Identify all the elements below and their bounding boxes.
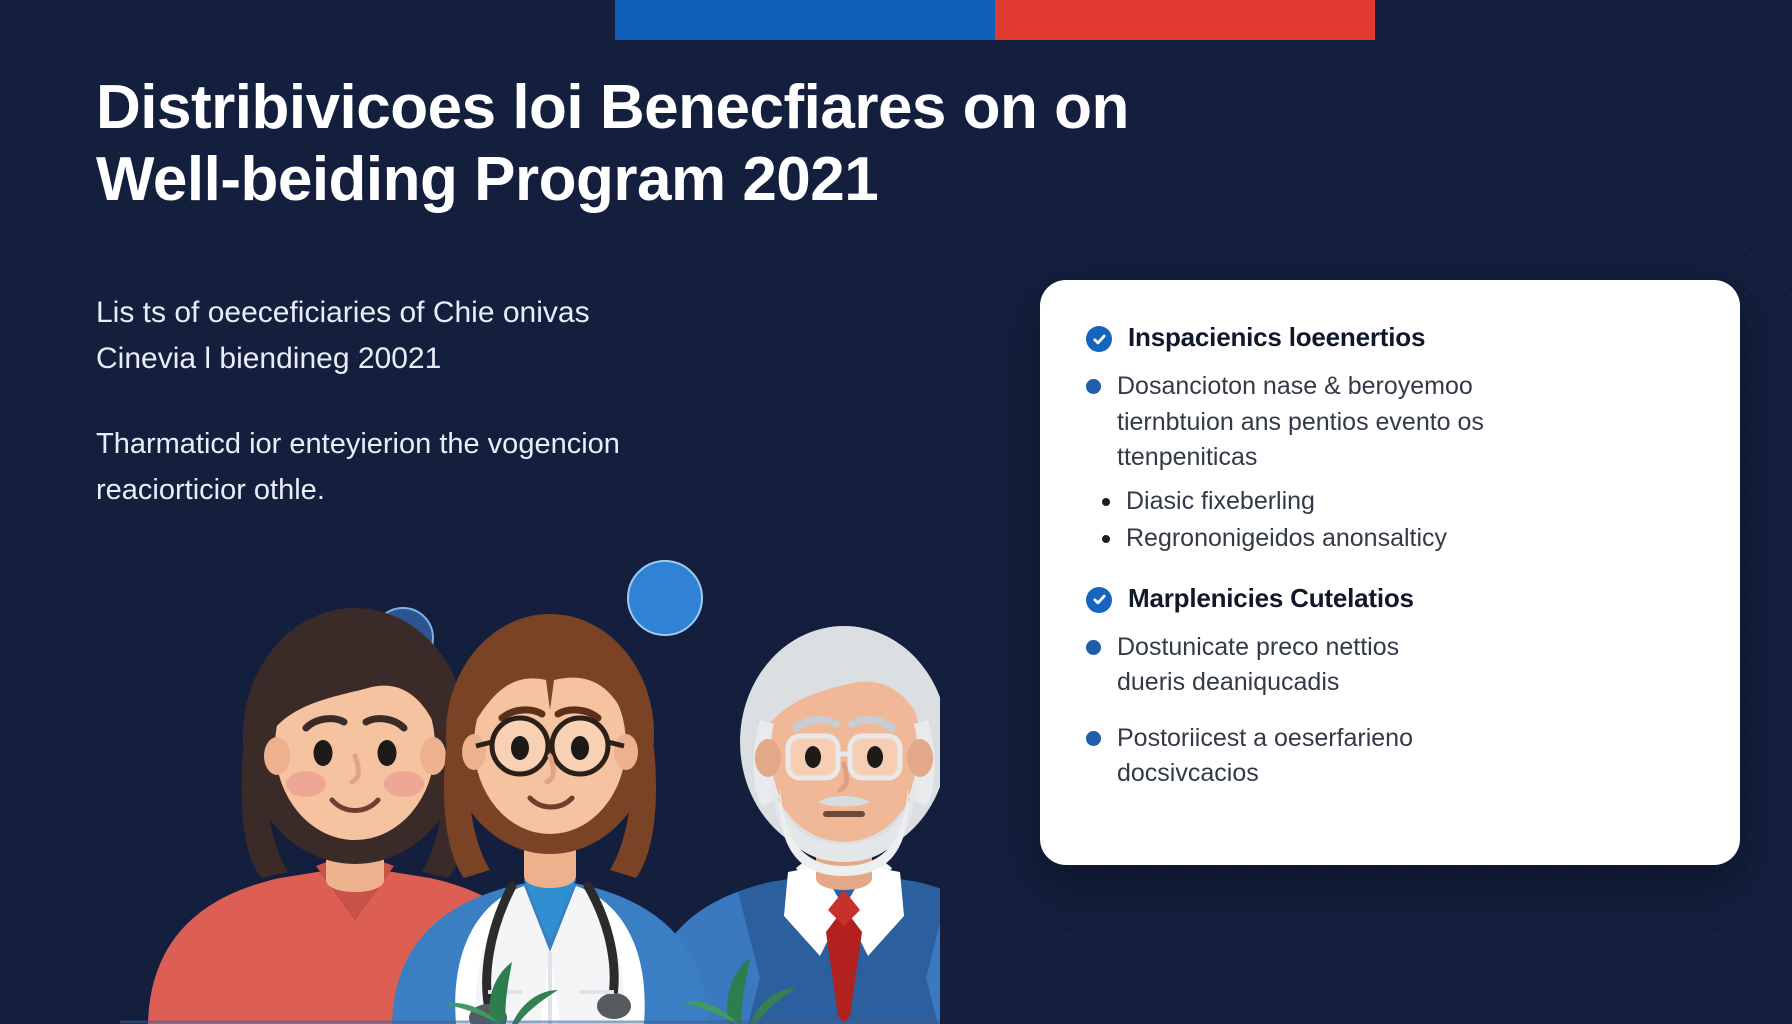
list-item-line-1: Postoriicest a oeserfarieno [1117, 724, 1413, 752]
body-paragraph: Tharmaticd ior enteyierion the vogencion… [96, 422, 886, 514]
check-circle-icon [1086, 587, 1112, 613]
small-bullet-icon [1102, 498, 1110, 506]
list-item: Dosancioton nase & beroyemoo tiernbtuion… [1086, 369, 1694, 476]
list-item-line-2: dueris deaniqucadis [1117, 668, 1339, 696]
page-title: Distribivicoes loi Benecfiares on on Wel… [96, 72, 1426, 216]
subtitle-line-2: Cinevia l biendineg 20021 [96, 336, 856, 382]
flag-red-segment [995, 0, 1375, 40]
card-section-1-heading: Inspacienics loeenertios [1128, 322, 1425, 353]
dot-bullet-icon [1086, 379, 1101, 394]
check-circle-icon [1086, 326, 1112, 352]
list-item-line-1: Dosancioton nase & beroyemoo [1117, 372, 1473, 400]
body-paragraph-line-2: reaciorticior othle. [96, 468, 886, 514]
list-item-text: Dosancioton nase & beroyemoo tiernbtuion… [1117, 369, 1484, 476]
list-item-line-1: Dostunicate preco nettios [1117, 633, 1399, 661]
card-section-2: Marplenicies Cutelatios Dostunicate prec… [1086, 583, 1694, 792]
subtitle-line-1: Lis ts of oeeceficiaries of Chie onivas [96, 290, 856, 336]
list-item: Dostunicate preco nettios dueris deaniqu… [1086, 630, 1694, 701]
list-item-line-3: ttenpeniticas [1117, 443, 1257, 471]
dot-bullet-icon [1086, 731, 1101, 746]
sub-list-item-text: Regrononigeidos anonsalticy [1126, 521, 1447, 557]
flag-blue-segment [615, 0, 995, 40]
small-bullet-icon [1102, 535, 1110, 543]
list-item: Postoriicest a oeserfarieno docsivcacios [1086, 721, 1694, 792]
subtitle: Lis ts of oeeceficiaries of Chie onivas … [96, 290, 856, 381]
sub-list-item: Diasic fixeberling [1102, 484, 1694, 520]
list-item-text: Postoriicest a oeserfarieno docsivcacios [1117, 721, 1413, 792]
card-section-2-heading: Marplenicies Cutelatios [1128, 583, 1414, 614]
sub-list-item: Regrononigeidos anonsalticy [1102, 521, 1694, 557]
three-people-illustration [120, 560, 940, 1024]
benefits-card: Inspacienics loeenertios Dosancioton nas… [1040, 280, 1740, 865]
spacer [1086, 709, 1694, 721]
body-paragraph-line-1: Tharmaticd ior enteyierion the vogencion [96, 422, 886, 468]
card-section-2-header: Marplenicies Cutelatios [1086, 583, 1694, 614]
dot-bullet-icon [1086, 640, 1101, 655]
card-section-1: Inspacienics loeenertios Dosancioton nas… [1086, 322, 1694, 557]
sub-list-item-text: Diasic fixeberling [1126, 484, 1315, 520]
card-section-1-header: Inspacienics loeenertios [1086, 322, 1694, 353]
flag-bar [615, 0, 1375, 40]
page-title-line-1: Distribivicoes loi Benecfiares on on [96, 73, 1129, 142]
list-item-text: Dostunicate preco nettios dueris deaniqu… [1117, 630, 1399, 701]
page-title-line-2: Well-beiding Program 2021 [96, 144, 1426, 216]
list-item-line-2: tiernbtuion ans pentios evento os [1117, 408, 1484, 436]
list-item-line-2: docsivcacios [1117, 759, 1259, 787]
